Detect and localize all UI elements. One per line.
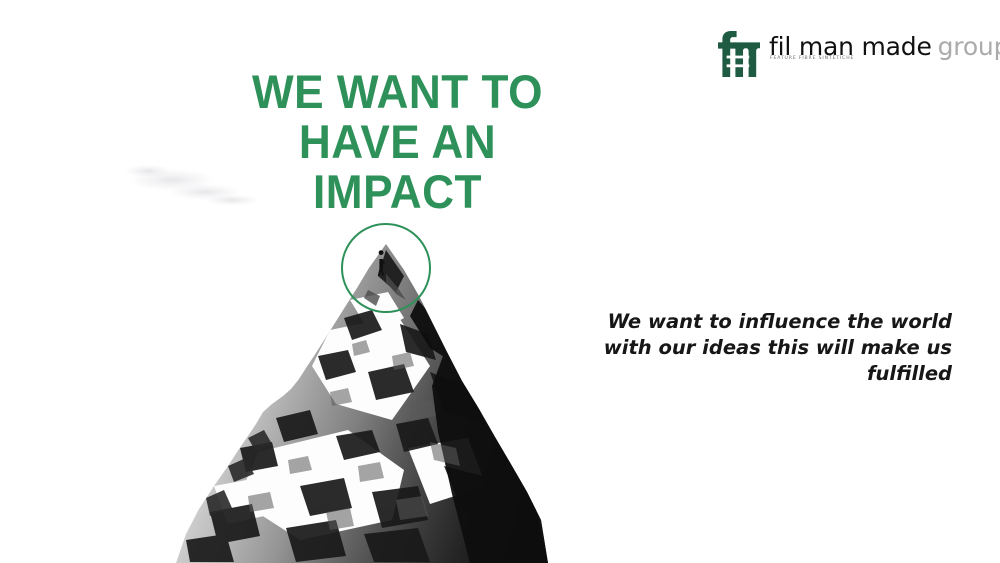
body-copy-line-2-prefix: ideas this will make us <box>702 336 952 359</box>
headline-line-1: WE WANT TO <box>165 67 630 117</box>
brand-logo: fil man madegroup FEATURE FIBRE SINTETIC… <box>718 31 1000 81</box>
body-copy: We want to influence the world with our … <box>556 309 952 387</box>
headline-line-3: IMPACT <box>165 167 630 217</box>
fm-monogram-icon <box>718 31 760 77</box>
body-copy-accent-word: fulfilled <box>867 362 952 385</box>
presentation-slide: WE WANT TO HAVE AN IMPACT fil man madegr… <box>0 0 1000 563</box>
page-title: WE WANT TO HAVE AN IMPACT <box>165 67 630 217</box>
logo-group-text: group <box>938 32 1000 61</box>
logo-tagline: FEATURE FIBRE SINTETICHE <box>770 56 854 61</box>
highlight-circle <box>341 223 431 313</box>
headline-line-2: HAVE AN <box>165 117 630 167</box>
